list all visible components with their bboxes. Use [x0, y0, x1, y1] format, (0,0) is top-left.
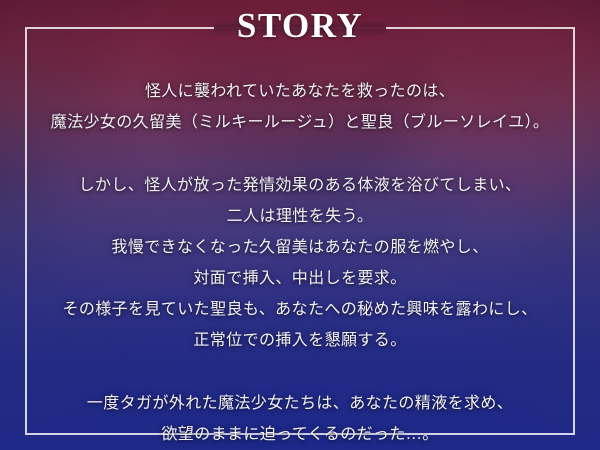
story-line: 欲望のままに迫ってくるのだった…。 [25, 419, 575, 450]
story-line: 二人は理性を失う。 [25, 201, 575, 232]
story-line: 正常位での挿入を懇願する。 [25, 325, 575, 356]
story-line: その様子を見ていた聖良も、あなたへの秘めた興味を露わにし、 [25, 294, 575, 325]
story-paragraph-middle: しかし、怪人が放った発情効果のある体液を浴びてしまい、 二人は理性を失う。 我慢… [25, 170, 575, 356]
story-line: 魔法少女の久留美（ミルキールージュ）と聖良（ブルーソレイユ）。 [25, 107, 575, 138]
story-line: 対面で挿入、中出しを要求。 [25, 263, 575, 294]
story-text-container: 怪人に襲われていたあなたを救ったのは、 魔法少女の久留美（ミルキールージュ）と聖… [25, 27, 575, 435]
story-line: しかし、怪人が放った発情効果のある体液を浴びてしまい、 [25, 170, 575, 201]
story-banner: STORY 怪人に襲われていたあなたを救ったのは、 魔法少女の久留美（ミルキール… [0, 0, 600, 450]
story-line: 怪人に襲われていたあなたを救ったのは、 [25, 76, 575, 107]
story-line: 我慢できなくなった久留美はあなたの服を燃やし、 [25, 232, 575, 263]
story-paragraph-intro: 怪人に襲われていたあなたを救ったのは、 魔法少女の久留美（ミルキールージュ）と聖… [25, 76, 575, 138]
story-line: 一度タガが外れた魔法少女たちは、あなたの精液を求め、 [25, 388, 575, 419]
story-paragraph-closing: 一度タガが外れた魔法少女たちは、あなたの精液を求め、 欲望のままに迫ってくるのだ… [25, 388, 575, 450]
